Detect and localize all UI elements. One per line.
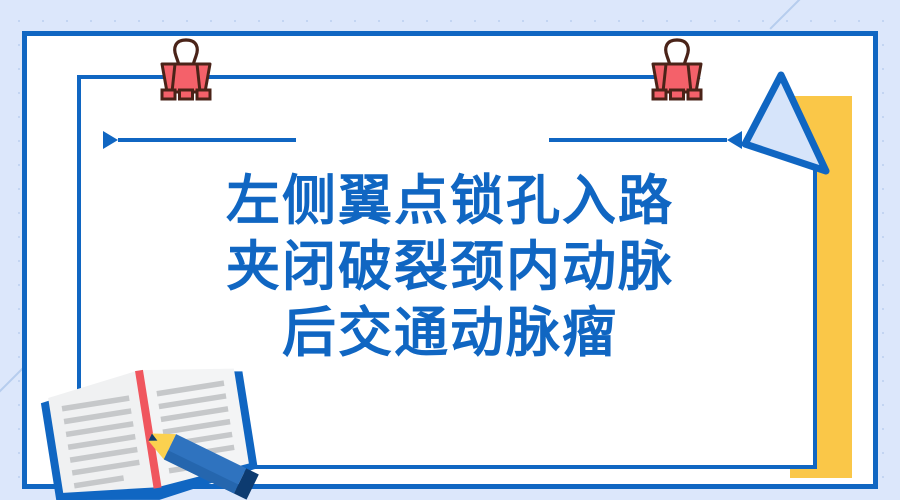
rule-left xyxy=(103,131,296,149)
triangle-right-icon xyxy=(103,131,118,149)
page-title: 左侧翼点锁孔入路 夹闭破裂颈内动脉 后交通动脉瘤 xyxy=(100,168,800,366)
rule-right xyxy=(549,131,742,149)
rule-line-left xyxy=(118,138,296,142)
poster-canvas: 左侧翼点锁孔入路 夹闭破裂颈内动脉 后交通动脉瘤 xyxy=(0,0,900,500)
title-line-2: 夹闭破裂颈内动脉 xyxy=(100,234,800,300)
diagonal-line-top-right-icon xyxy=(769,0,838,29)
triangle-left-icon xyxy=(727,131,742,149)
rule-line-right xyxy=(549,138,727,142)
title-line-1: 左侧翼点锁孔入路 xyxy=(100,168,800,234)
title-line-3: 后交通动脉瘤 xyxy=(100,300,800,366)
